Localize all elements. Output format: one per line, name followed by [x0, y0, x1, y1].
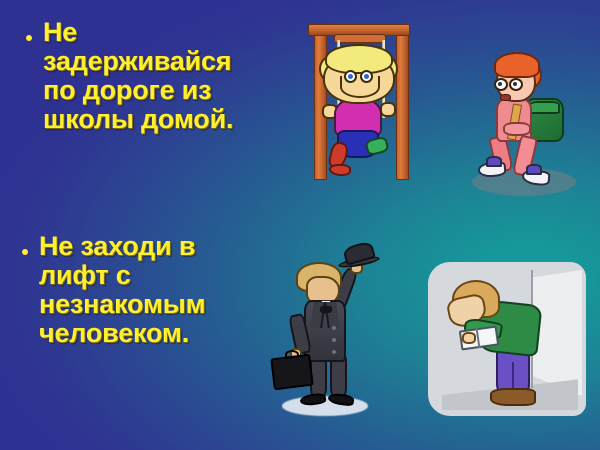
bullet-marker-icon	[26, 35, 32, 41]
briefcase-icon	[270, 354, 314, 391]
swing-post-right	[396, 28, 409, 180]
bullet-item-one: Не задерживайся по дороге из школы домой…	[26, 18, 288, 134]
presentation-slide: Не задерживайся по дороге из школы домой…	[0, 0, 600, 450]
child-hair-top	[325, 44, 393, 74]
child-on-swing-illustration	[296, 14, 432, 194]
man-leg-right	[330, 356, 347, 398]
boy-with-backpack-illustration	[470, 48, 582, 200]
walker-shoe-collar-front	[526, 164, 542, 175]
jacket-button	[332, 338, 336, 342]
walker-shoe-collar-back	[486, 156, 502, 167]
bullet-marker-icon	[22, 249, 28, 255]
bullet-two-text: Не заходи в лифт с незнакомым человеком.	[39, 232, 205, 348]
backpack-flap	[529, 101, 560, 114]
walker-pupil-left	[498, 82, 502, 86]
elevator-boy-hand	[462, 332, 476, 344]
child-smile	[340, 76, 380, 98]
elevator-boy-boots	[490, 388, 536, 406]
child-shoe	[329, 164, 351, 176]
walker-arm	[503, 122, 531, 136]
bullet-one-text: Не задерживайся по дороге из школы домой…	[43, 18, 233, 134]
jacket-button	[332, 350, 336, 354]
jacket-button	[332, 326, 336, 330]
walker-hair	[494, 52, 540, 78]
child-arm-right	[380, 102, 396, 117]
walker-pupil-right	[513, 82, 517, 86]
swing-brace	[334, 34, 386, 43]
bowtie-icon	[320, 306, 332, 313]
walker-mouth	[500, 94, 511, 101]
boy-reading-in-elevator-illustration	[424, 258, 590, 420]
bullet-item-two: Не заходи в лифт с незнакомым человеком.	[22, 232, 284, 348]
stranger-in-suit-illustration	[266, 238, 388, 420]
